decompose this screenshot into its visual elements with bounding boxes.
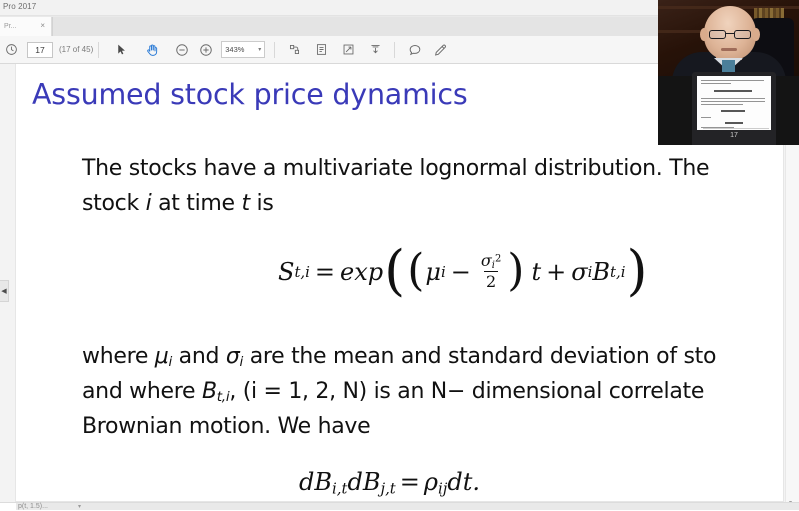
glasses-icon (709, 30, 751, 40)
select-tool-icon[interactable] (112, 40, 131, 59)
zoom-level-value: 343% (225, 45, 244, 54)
slide-paragraph-1-line-2: stock i at time t is (82, 191, 273, 216)
eqb-dB2-subscript: j,t (380, 479, 395, 497)
toolbar-divider-1 (98, 42, 99, 58)
thumb-text-line (701, 104, 743, 105)
slide-paragraph-2-line-3: Brownian motion. We have (82, 414, 370, 439)
eqb-dB1: dB (299, 468, 332, 496)
thumb-equation-line (721, 110, 745, 112)
eq-S: S (278, 258, 294, 286)
eq-frac-denominator: 2 (484, 271, 498, 291)
p2l2-part-b: , (i = 1, 2, N) is an N− dimensional cor… (229, 379, 704, 404)
zoom-in-icon[interactable] (196, 40, 215, 59)
slide-paragraph-2-line-2: and where Bt,i, (i = 1, 2, N) is an N− d… (82, 379, 704, 405)
eq-mu: μ (425, 258, 441, 286)
fit-page-icon[interactable] (312, 40, 331, 59)
eq-mu-subscript: i (441, 263, 446, 281)
eq-plus: + (546, 258, 566, 286)
glasses-lens-right (734, 30, 751, 39)
thumb-text-line (701, 83, 731, 84)
download-icon[interactable] (366, 40, 385, 59)
toolbar-divider-3 (394, 42, 395, 58)
p2l1-sigma: σ (226, 344, 240, 369)
chevron-left-icon: ◀ (1, 287, 6, 295)
presenter-ear-right (752, 28, 760, 41)
glasses-bridge (726, 33, 734, 34)
eq-S-subscript: t,i (294, 263, 309, 281)
eqb-dB2: dB (347, 468, 380, 496)
window-title: Pro 2017 (3, 2, 36, 11)
p2l1-part-c: are the mean and standard deviation of s… (243, 344, 716, 369)
eq-sigma-num: σ (481, 251, 492, 270)
fullscreen-icon[interactable] (339, 40, 358, 59)
eqb-equals: = (400, 468, 420, 496)
close-icon[interactable]: × (40, 22, 45, 30)
tablet-page-number: 17 (692, 132, 776, 139)
page-number-input[interactable]: 17 (27, 42, 53, 58)
thumb-equation-line (725, 122, 743, 124)
page-total-label: (17 of 45) (59, 45, 93, 54)
rotate-page-icon[interactable] (285, 40, 304, 59)
thumb-equation-line (714, 90, 752, 92)
eq-t: t (531, 258, 541, 286)
equation-stock-price: St,i = exp ( ( μi − σi2 2 ) t + σi Bt,i … (278, 252, 649, 292)
tablet-device-preview: 17 (692, 72, 776, 145)
webcam-video-feed (658, 0, 799, 76)
p1l2-part-b: at time (151, 191, 241, 216)
glasses-lens-left (709, 30, 726, 39)
eq-equals: = (315, 258, 335, 286)
toolbar-divider-2 (274, 42, 275, 58)
eq-B: B (592, 258, 610, 286)
p2l2-part-a: and where (82, 379, 202, 404)
zoom-out-icon[interactable] (172, 40, 191, 59)
slide-paragraph-1-line-1: The stocks have a multivariate lognormal… (82, 156, 709, 181)
eq-variance-fraction: σi2 2 (479, 251, 503, 291)
taskbar: p(t, 1.5)... ▾ (0, 502, 799, 510)
eqb-rho: ρ (424, 468, 438, 496)
equation-brownian-correlation: dBi,tdBj,t=ρijdt. (299, 468, 480, 497)
eqb-dt: dt. (447, 468, 480, 496)
eq-sigma2: σ (571, 258, 587, 286)
p2l1-part-a: where (82, 344, 155, 369)
thumb-text-line (701, 117, 711, 118)
chevron-down-icon: ▾ (258, 46, 261, 53)
zoom-level-select[interactable]: 343% ▾ (221, 41, 265, 58)
thumb-text-line (701, 80, 764, 81)
p1l2-part-c: is (250, 191, 274, 216)
taskbar-item-label[interactable]: p(t, 1.5)... (18, 503, 48, 510)
eqb-rho-subscript: ij (438, 479, 447, 497)
eq-B-subscript: t,i (610, 263, 625, 281)
thumb-scroll-indicator (703, 128, 769, 129)
presenter-mouth (721, 48, 737, 51)
p2l1-part-b: and (172, 344, 226, 369)
background-shelf-left (658, 30, 702, 33)
p2l2-B-subscript: t,i (217, 389, 230, 405)
p2l2-B: B (202, 379, 217, 404)
hand-tool-icon[interactable] (142, 40, 161, 59)
video-conference-overlay[interactable]: 17 (658, 0, 799, 145)
slide-title: Assumed stock price dynamics (32, 78, 467, 111)
document-tab-label: Pr... (4, 23, 16, 30)
thumb-text-line (701, 101, 765, 102)
presenter-ear-left (700, 28, 708, 41)
eq-frac-numerator: σi2 (479, 251, 503, 271)
highlighter-icon[interactable] (430, 40, 449, 59)
eqb-dB1-subscript: i,t (332, 479, 347, 497)
sidebar-collapse-toggle[interactable]: ◀ (0, 280, 9, 302)
tablet-screen-slide-thumbnail (697, 76, 771, 130)
document-tab[interactable]: Pr... × (0, 17, 52, 36)
eq-sigma-num-superscript: 2 (495, 254, 501, 265)
p1l2-var-t: t (241, 191, 249, 216)
thumb-text-line (701, 98, 765, 99)
eq-minus: − (451, 258, 471, 286)
comment-icon[interactable] (405, 40, 424, 59)
chevron-down-icon[interactable]: ▾ (78, 503, 81, 510)
p1l2-part-a: stock (82, 191, 146, 216)
p2l1-mu: μ (155, 344, 169, 369)
eq-exp: exp (340, 258, 383, 286)
history-back-icon[interactable] (2, 40, 21, 59)
slide-paragraph-2-line-1: where μi and σi are the mean and standar… (82, 344, 716, 370)
